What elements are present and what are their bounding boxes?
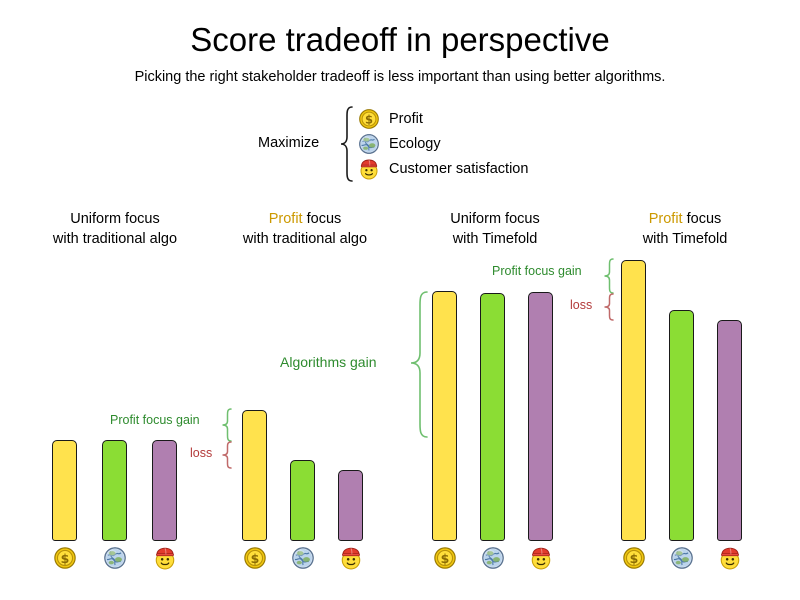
annotation-loss-left: loss <box>190 446 212 461</box>
brace-profit-focus-gain-right <box>601 258 615 294</box>
bar-group1-profit <box>52 440 77 541</box>
legend-title: Maximize <box>258 134 319 152</box>
smiley-hardhat-icon <box>339 546 363 570</box>
legend-brace <box>338 106 354 182</box>
globe-icon <box>670 546 694 570</box>
bar-group4-customer-satisfaction <box>717 320 742 541</box>
bar-group4-ecology <box>669 310 694 541</box>
page-title: Score tradeoff in perspective <box>0 20 800 60</box>
svg-text:$: $ <box>60 551 69 566</box>
annotation-loss-right: loss <box>570 298 592 313</box>
smiley-hardhat-icon <box>529 546 553 570</box>
legend-item-ecology: Ecology <box>358 131 441 156</box>
coin-dollar-icon: $ <box>622 546 646 570</box>
column-header-line2: with Timefold <box>570 229 800 249</box>
page-subtitle: Picking the right stakeholder tradeoff i… <box>0 68 800 86</box>
bar-group2-ecology <box>290 460 315 541</box>
bar-group1-customer-satisfaction <box>152 440 177 541</box>
annotation-profit-focus-gain-left: Profit focus gain <box>110 413 200 428</box>
legend-item-label: Profit <box>389 110 423 128</box>
smiley-hardhat-icon <box>153 546 177 570</box>
globe-icon <box>103 546 127 570</box>
bar-group3-ecology <box>480 293 505 541</box>
svg-text:$: $ <box>250 551 259 566</box>
bar-group2-customer-satisfaction <box>338 470 363 541</box>
globe-icon <box>358 133 380 155</box>
svg-text:$: $ <box>440 551 449 566</box>
brace-loss-right <box>601 293 615 321</box>
smiley-hardhat-icon <box>718 546 742 570</box>
coin-dollar-icon: $ <box>53 546 77 570</box>
legend-item-customer: Customer satisfaction <box>358 156 528 181</box>
chart-canvas: Score tradeoff in perspective Picking th… <box>0 0 800 600</box>
globe-icon <box>291 546 315 570</box>
bar-group1-ecology <box>102 440 127 541</box>
legend-item-label: Customer satisfaction <box>389 160 528 178</box>
coin-dollar-icon: $ <box>433 546 457 570</box>
bar-group4-profit <box>621 260 646 541</box>
svg-text:$: $ <box>365 112 373 126</box>
coin-dollar-icon: $ <box>243 546 267 570</box>
bar-group3-customer-satisfaction <box>528 292 553 541</box>
legend: Maximize $ Profit <box>258 106 558 182</box>
brace-profit-focus-gain-left <box>219 408 233 442</box>
legend-item-label: Ecology <box>389 135 441 153</box>
legend-item-profit: $ Profit <box>358 106 423 131</box>
svg-text:$: $ <box>629 551 638 566</box>
bar-group2-profit <box>242 410 267 541</box>
bar-group3-profit <box>432 291 457 541</box>
column-header-line1: Profit focus <box>570 209 800 229</box>
brace-algorithms-gain <box>409 291 429 439</box>
coin-dollar-icon: $ <box>358 108 380 130</box>
brace-loss-left <box>219 441 233 469</box>
annotation-algorithms-gain: Algorithms gain <box>280 354 377 371</box>
smiley-hardhat-icon <box>358 158 380 180</box>
annotation-profit-focus-gain-right: Profit focus gain <box>492 264 582 279</box>
column-header-profit-timefold: Profit focus with Timefold <box>570 209 800 249</box>
globe-icon <box>481 546 505 570</box>
